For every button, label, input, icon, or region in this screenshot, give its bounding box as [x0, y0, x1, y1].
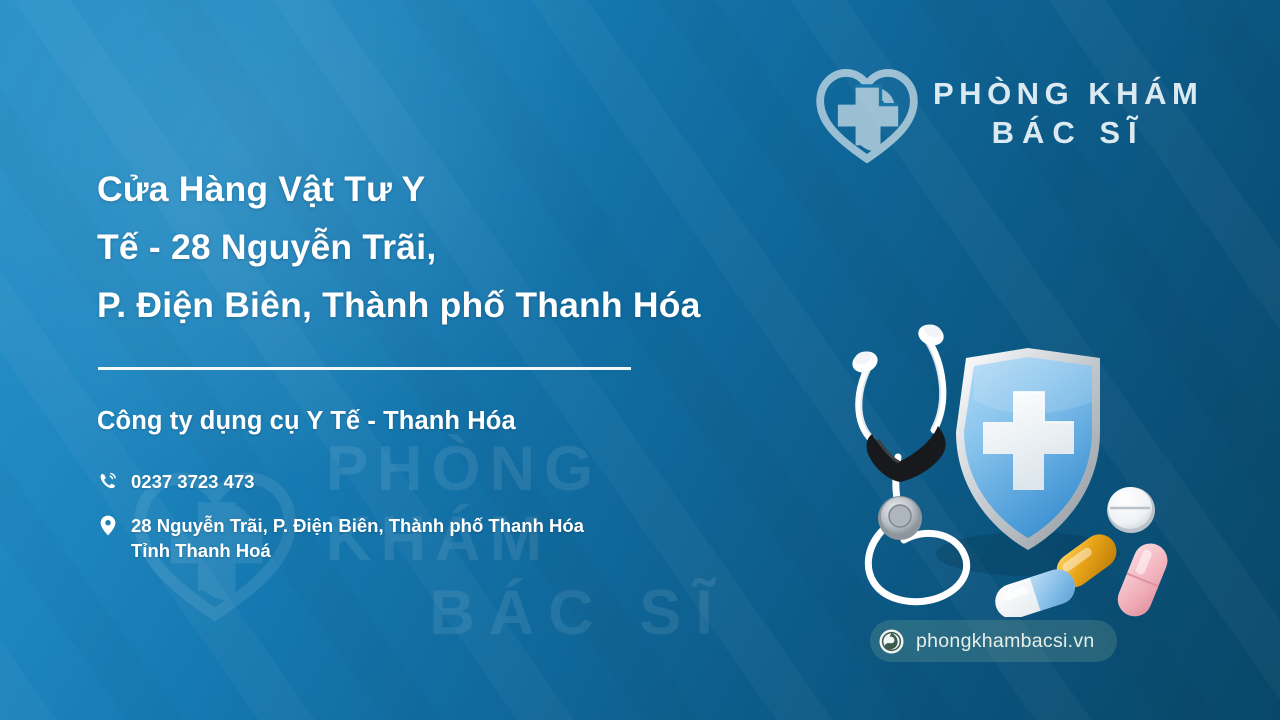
page-title-line1: Cửa Hàng Vật Tư Y — [97, 160, 877, 218]
contact-list: 0237 3723 473 28 Nguyễn Trãi, P. Điện Bi… — [97, 469, 877, 563]
divider — [98, 367, 631, 370]
content-block: Cửa Hàng Vật Tư Y Tế - 28 Nguyễn Trãi, P… — [97, 160, 877, 563]
address-line1: 28 Nguyễn Trãi, P. Điện Biên, Thành phố … — [131, 513, 584, 538]
pink-capsule — [1113, 538, 1173, 617]
round-tablet — [1107, 487, 1155, 533]
phone-ringing-icon — [97, 469, 118, 491]
address: 28 Nguyễn Trãi, P. Điện Biên, Thành phố … — [131, 513, 584, 563]
website-url[interactable]: phongkhambacsi.vn — [916, 630, 1095, 653]
watermark-line2: BÁC SĨ — [429, 574, 727, 652]
map-pin-icon — [97, 513, 118, 536]
brand-logo-text: PHÒNG KHÁM BÁC SĨ — [933, 75, 1203, 153]
banner-root: PHÒNG KHÁM BÁC SĨ PHÒNG KHÁM BÁC SĨ Cửa … — [0, 0, 1280, 720]
medical-illustration-svg — [838, 322, 1183, 617]
contact-row-address: 28 Nguyễn Trãi, P. Điện Biên, Thành phố … — [97, 513, 877, 563]
medical-illustration — [838, 322, 1183, 617]
website-badge[interactable]: phongkhambacsi.vn — [870, 620, 1117, 662]
contact-row-phone: 0237 3723 473 — [97, 469, 877, 494]
address-line2: Tỉnh Thanh Hoá — [131, 538, 584, 563]
medical-shield-with-cross — [956, 348, 1100, 550]
logo-line2: BÁC SĨ — [992, 113, 1145, 153]
heart-cross-icon — [815, 62, 919, 166]
brand-logo: PHÒNG KHÁM BÁC SĨ — [815, 62, 1203, 166]
phone-number[interactable]: 0237 3723 473 — [131, 469, 254, 494]
logo-line1: PHÒNG KHÁM — [933, 75, 1203, 113]
page-title: Cửa Hàng Vật Tư Y Tế - 28 Nguyễn Trãi, P… — [97, 160, 877, 334]
globe-icon — [879, 629, 904, 654]
page-title-line3: P. Điện Biên, Thành phố Thanh Hóa — [97, 276, 877, 334]
stethoscope-chestpiece — [878, 496, 922, 540]
page-title-line2: Tế - 28 Nguyễn Trãi, — [97, 218, 877, 276]
subtitle: Công ty dụng cụ Y Tế - Thanh Hóa — [97, 406, 877, 436]
stethoscope-junction — [867, 426, 946, 482]
